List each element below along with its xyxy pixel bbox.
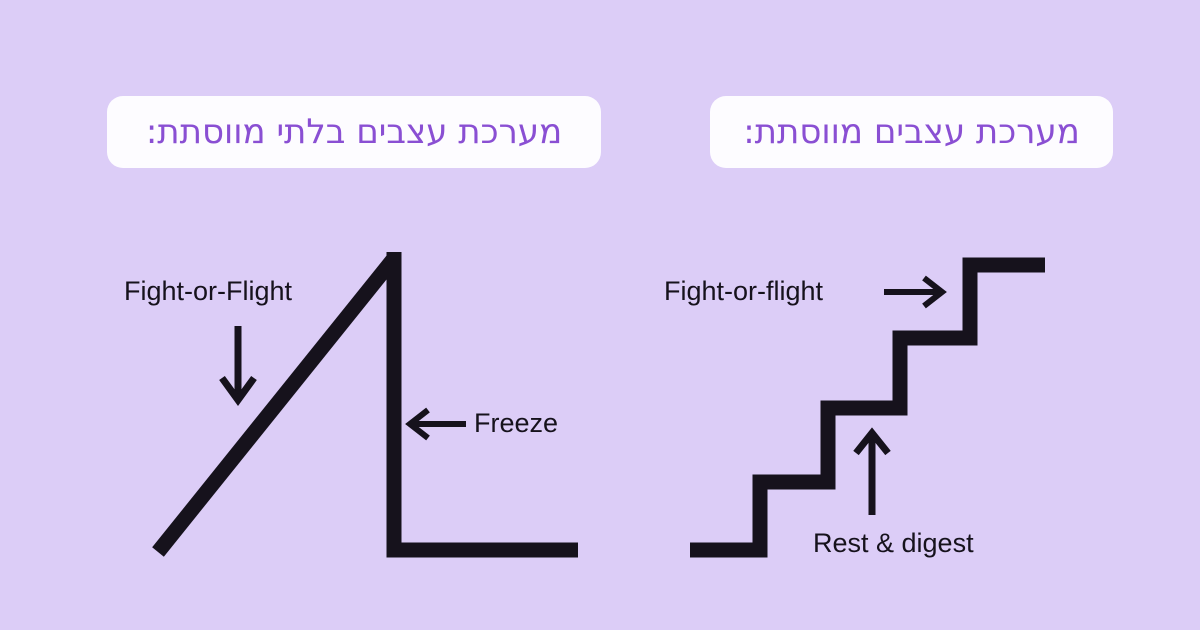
label-freeze: Freeze [474,410,558,437]
arrow-up-icon [856,433,888,515]
label-fight-or-flight-left: Fight-or-Flight [124,278,292,305]
panel-dysregulated: מערכת עצבים בלתי מווסתת: Fight-or-Flight… [0,0,650,630]
label-rest-and-digest: Rest & digest [813,530,974,557]
arrow-down-icon [222,326,254,400]
panel-regulated: מערכת עצבים מווסתת: Fight-or-flight Rest… [650,0,1200,630]
label-fight-or-flight-right: Fight-or-flight [664,278,823,305]
infographic-root: מערכת עצבים בלתי מווסתת: Fight-or-Flight… [0,0,1200,630]
arrow-right-icon [884,278,942,306]
arrow-left-icon [410,410,466,438]
staircase-line [690,265,1045,550]
crash-and-baseline-line [394,252,578,550]
dysregulated-chart [0,0,650,630]
